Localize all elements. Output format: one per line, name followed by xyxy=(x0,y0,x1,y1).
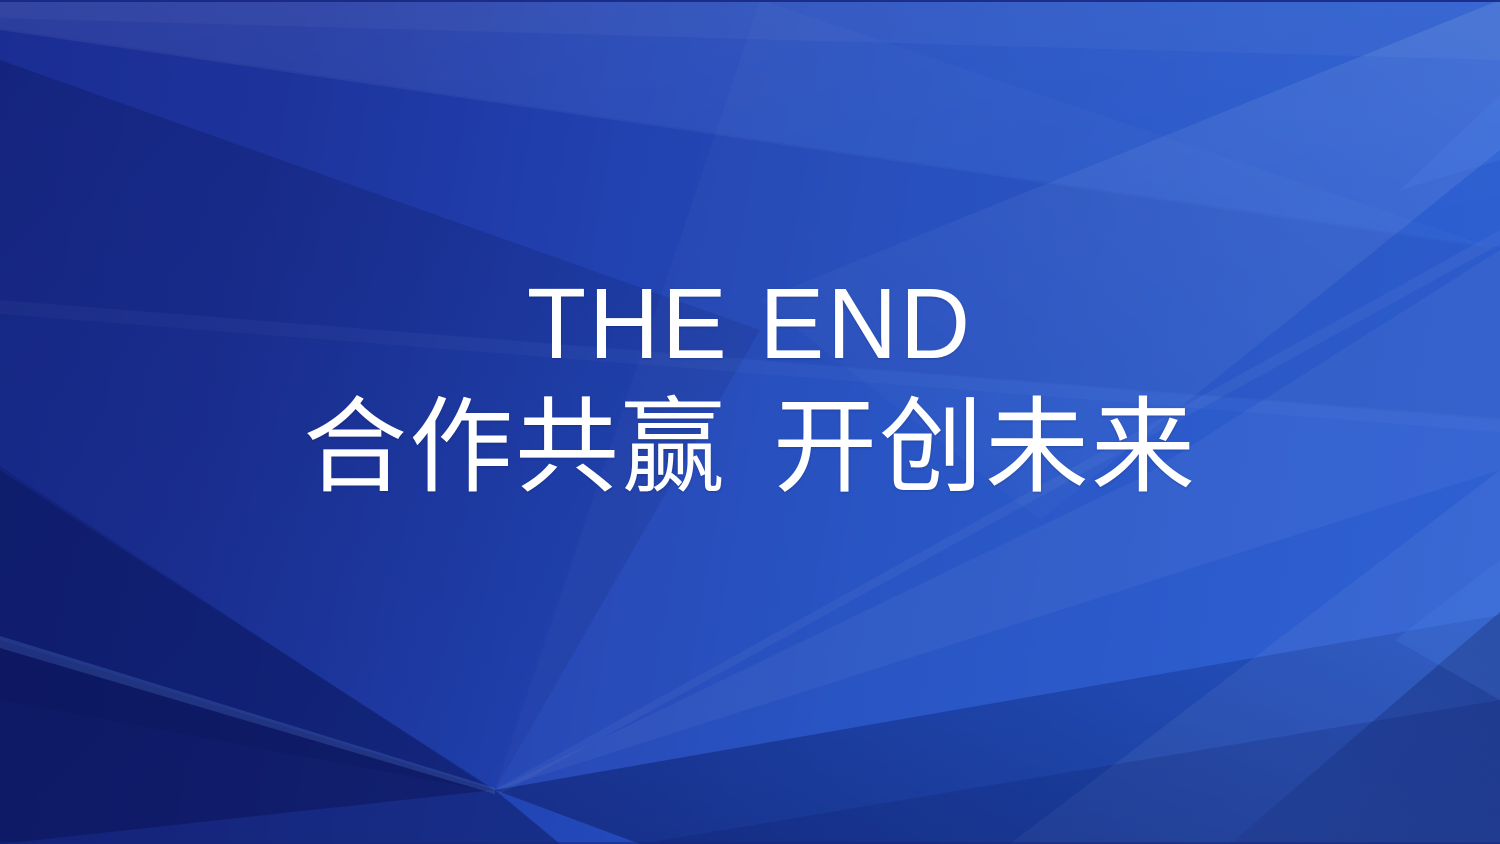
slide-content: THE END 合作共赢开创未来 xyxy=(0,0,1500,844)
page-title-chinese-part1: 合作共赢 xyxy=(303,390,727,506)
page-title-chinese-part2: 开创未来 xyxy=(773,390,1197,506)
presentation-slide: THE END 合作共赢开创未来 xyxy=(0,0,1500,844)
page-title-chinese: 合作共赢开创未来 xyxy=(303,396,1197,500)
page-title-english: THE END xyxy=(527,274,973,374)
